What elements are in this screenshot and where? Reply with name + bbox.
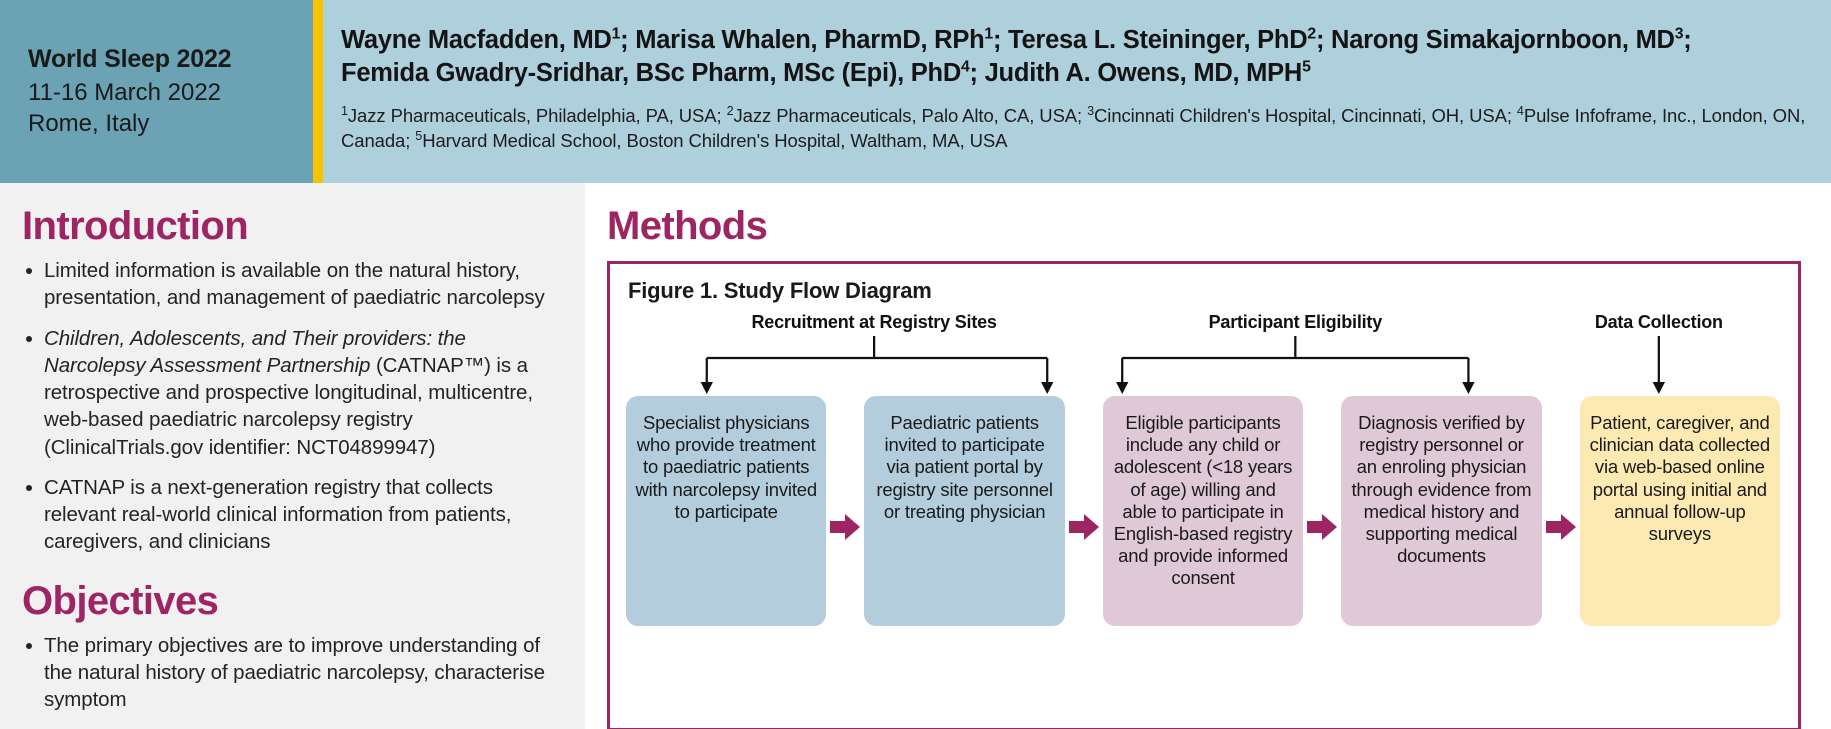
objectives-title: Objectives — [22, 580, 555, 622]
author-line-2: Femida Gwadry-Sridhar, BSc Pharm, MSc (E… — [341, 57, 1809, 90]
body-text: The primary objectives are to improve un… — [44, 634, 545, 712]
figure-1-caption: Figure 1. Study Flow Diagram — [628, 278, 1780, 304]
left-column: Introduction Limited information is avai… — [0, 183, 585, 729]
study-flow-diagram: Recruitment at Registry SitesParticipant… — [626, 312, 1780, 712]
header-accent-divider — [313, 0, 323, 183]
objectives-bullets: The primary objectives are to improve un… — [22, 632, 555, 714]
flow-box-4: Patient, caregiver, and clinician data c… — [1580, 396, 1780, 626]
down-arrow-icon — [1462, 382, 1474, 394]
right-column: Methods Figure 1. Study Flow Diagram Rec… — [585, 183, 1831, 729]
conference-dates: 11-16 March 2022 — [28, 77, 313, 108]
author-line-1: Wayne Macfadden, MD1; Marisa Whalen, Pha… — [341, 24, 1809, 57]
right-arrow-icon — [1307, 514, 1337, 540]
flow-group-header-2: Data Collection — [1595, 312, 1723, 333]
conference-block: World Sleep 2022 11-16 March 2022 Rome, … — [0, 0, 313, 183]
poster-header: World Sleep 2022 11-16 March 2022 Rome, … — [0, 0, 1831, 183]
flow-box-1: Paediatric patients invited to participa… — [864, 396, 1064, 626]
affiliation-list: 1Jazz Pharmaceuticals, Philadelphia, PA,… — [341, 103, 1809, 153]
down-arrow-icon — [1116, 382, 1128, 394]
poster-body: Introduction Limited information is avai… — [0, 183, 1831, 729]
figure-1-panel: Figure 1. Study Flow Diagram Recruitment… — [607, 261, 1801, 729]
right-arrow-icon — [1546, 514, 1576, 540]
introduction-bullets: Limited information is available on the … — [22, 257, 555, 556]
flow-arrow-1 — [826, 514, 864, 540]
flow-box-0: Specialist physicians who provide treatm… — [626, 396, 826, 626]
flow-group-header-1: Participant Eligibility — [1209, 312, 1382, 333]
right-arrow-icon — [1069, 514, 1099, 540]
flow-arrow-2 — [1065, 514, 1103, 540]
introduction-title: Introduction — [22, 205, 555, 247]
body-text: Limited information is available on the … — [44, 259, 545, 309]
list-item: Children, Adolescents, and Their provide… — [22, 325, 555, 461]
flow-boxes-row: Specialist physicians who provide treatm… — [626, 396, 1780, 626]
flow-group-header-0: Recruitment at Registry Sites — [751, 312, 996, 333]
body-text: CATNAP is a next-generation registry tha… — [44, 476, 511, 554]
down-arrow-icon — [1041, 382, 1053, 394]
poster-root: World Sleep 2022 11-16 March 2022 Rome, … — [0, 0, 1831, 729]
down-arrow-icon — [1653, 382, 1665, 394]
flow-arrow-3 — [1303, 514, 1341, 540]
down-arrow-icon — [701, 382, 713, 394]
conference-name: World Sleep 2022 — [28, 44, 313, 76]
authors-block: Wayne Macfadden, MD1; Marisa Whalen, Pha… — [323, 0, 1831, 183]
flow-box-3: Diagnosis verified by registry personnel… — [1341, 396, 1541, 626]
methods-title: Methods — [607, 205, 1801, 247]
list-item: Limited information is available on the … — [22, 257, 555, 312]
list-item: CATNAP is a next-generation registry tha… — [22, 474, 555, 556]
flow-box-2: Eligible participants include any child … — [1103, 396, 1303, 626]
flow-arrow-4 — [1542, 514, 1580, 540]
objectives-block: Objectives The primary objectives are to… — [22, 580, 555, 714]
flow-connector-arrows — [626, 334, 1780, 396]
conference-location: Rome, Italy — [28, 108, 313, 139]
author-list: Wayne Macfadden, MD1; Marisa Whalen, Pha… — [341, 24, 1809, 90]
list-item: The primary objectives are to improve un… — [22, 632, 555, 714]
right-arrow-icon — [830, 514, 860, 540]
